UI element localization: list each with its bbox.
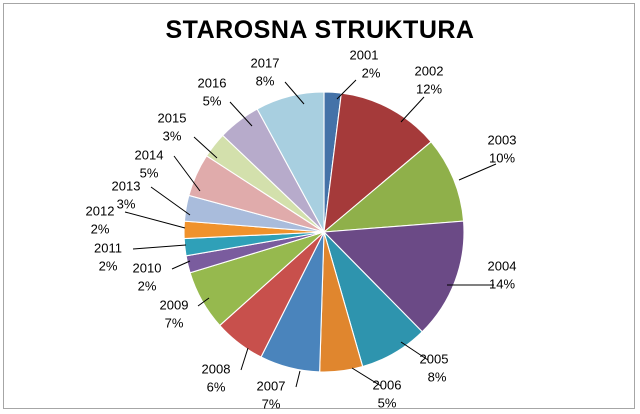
- data-label-percent: 8%: [256, 73, 275, 88]
- data-label-category: 2017: [251, 55, 280, 70]
- data-label-category: 2003: [488, 132, 517, 147]
- data-label-category: 2014: [135, 147, 164, 162]
- data-label-category: 2007: [257, 378, 286, 393]
- leader-line: [296, 371, 300, 387]
- data-label-percent: 2%: [362, 65, 381, 80]
- data-label-category: 2011: [94, 240, 122, 255]
- chart-frame: STAROSNA STRUKTURA 20012%200212%200310%2…: [3, 3, 635, 409]
- data-label-percent: 2%: [91, 221, 110, 236]
- data-label-category: 2008: [202, 361, 231, 376]
- data-label-category: 2010: [133, 260, 162, 275]
- data-label-percent: 6%: [207, 379, 226, 394]
- data-label-percent: 14%: [489, 276, 515, 291]
- data-label-percent: 2%: [99, 258, 118, 273]
- leader-line: [459, 164, 496, 180]
- leader-line: [125, 212, 185, 228]
- data-label-percent: 3%: [117, 196, 136, 211]
- data-label-category: 2002: [415, 63, 444, 78]
- data-label-percent: 5%: [140, 165, 159, 180]
- data-label-percent: 5%: [378, 395, 397, 410]
- data-label-category: 2016: [198, 75, 227, 90]
- data-label-percent: 3%: [163, 128, 182, 143]
- data-label-category: 2001: [350, 47, 379, 62]
- data-label-category: 2005: [420, 351, 449, 366]
- data-label-category: 2009: [160, 297, 189, 312]
- leader-line: [241, 348, 248, 370]
- pie-chart-svg: 20012%200212%200310%200414%20058%20065%2…: [4, 4, 636, 410]
- data-label-percent: 2%: [138, 278, 157, 293]
- leader-line: [133, 245, 186, 249]
- leader-line: [174, 156, 200, 191]
- leader-line: [151, 187, 190, 215]
- data-label-category: 2013: [112, 178, 141, 193]
- chart-screenshot: STAROSNA STRUKTURA 20012%200212%200310%2…: [0, 0, 640, 414]
- data-label-percent: 7%: [165, 315, 184, 330]
- data-label-category: 2006: [373, 377, 402, 392]
- data-label-percent: 8%: [428, 369, 447, 384]
- data-label-category: 2004: [488, 258, 517, 273]
- pie-slices-group: [184, 92, 464, 372]
- data-label-percent: 12%: [416, 81, 442, 96]
- pie-plot-area: 20012%200212%200310%200414%20058%20065%2…: [4, 4, 636, 410]
- data-label-percent: 7%: [262, 396, 281, 410]
- leader-line: [172, 261, 190, 269]
- data-label-category: 2015: [158, 110, 187, 125]
- data-label-percent: 10%: [489, 150, 515, 165]
- data-label-percent: 5%: [203, 93, 222, 108]
- leader-line: [401, 97, 424, 122]
- data-label-category: 2012: [86, 203, 115, 218]
